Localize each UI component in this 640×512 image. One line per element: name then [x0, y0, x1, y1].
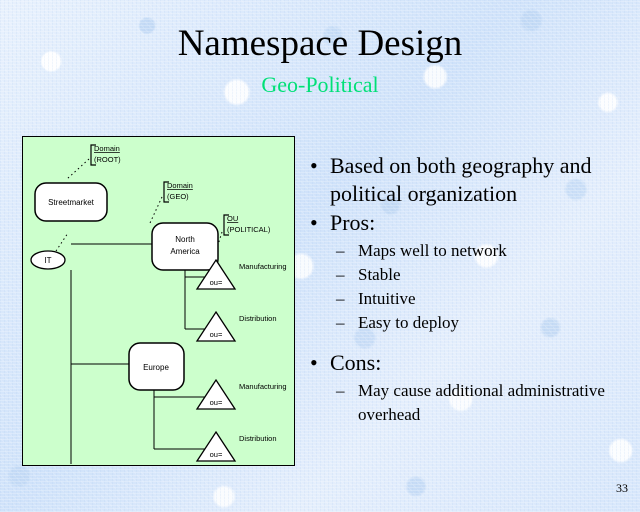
dash-marker-icon: –	[336, 311, 345, 335]
bullet-text: Based on both geography and political or…	[330, 153, 592, 206]
callout-domain-geo: Domain (GEO)	[150, 181, 193, 223]
callout-ou-political: OU (POLITICAL)	[213, 214, 271, 261]
ou-side-label: Manufacturing	[239, 382, 287, 391]
bullet-marker-icon: •	[310, 152, 318, 180]
node-europe[interactable]: Europe	[129, 343, 184, 390]
bullet-text: Cons:	[330, 350, 381, 375]
node-north-america[interactable]: North America	[152, 223, 218, 270]
slide: Namespace Design Geo-Political	[0, 0, 640, 512]
node-it-leader	[56, 233, 68, 251]
dash-marker-icon: –	[336, 379, 345, 403]
sub-bullet-text: Maps well to network	[358, 241, 507, 260]
ou-side-label: Manufacturing	[239, 262, 287, 271]
bullet-content: • Based on both geography and political …	[306, 152, 636, 431]
ou-side-label: Distribution	[239, 434, 277, 443]
dash-marker-icon: –	[336, 239, 345, 263]
ou-side-label: Distribution	[239, 314, 277, 323]
bullet-list-level1: • Based on both geography and political …	[306, 152, 636, 427]
callout-leader-1	[150, 197, 162, 223]
ou-node-na-distribution[interactable]: ou= Distribution	[197, 312, 277, 341]
ou-inner-label: ou=	[210, 450, 223, 459]
dash-marker-icon: –	[336, 287, 345, 311]
sub-bullet-text: Stable	[358, 265, 401, 284]
node-streetmarket-label: Streetmarket	[48, 198, 95, 207]
bullet-marker-icon: •	[310, 349, 318, 377]
page-subtitle: Geo-Political	[0, 72, 640, 98]
node-it[interactable]: IT	[31, 233, 68, 269]
bullet-text: Pros:	[330, 210, 375, 235]
callout-sub-1: (GEO)	[167, 192, 189, 201]
ou-inner-label: ou=	[210, 278, 223, 287]
sub-bullet-text: May cause additional administrative over…	[358, 381, 605, 424]
bullet-list-level2-cons: – May cause additional administrative ov…	[330, 379, 636, 427]
node-north-america-label-2: America	[170, 247, 200, 256]
sub-bullet-maps-well: – Maps well to network	[330, 239, 636, 263]
ou-node-eu-manufacturing[interactable]: ou= Manufacturing	[197, 380, 287, 409]
bullet-item-cons: • Cons: – May cause additional administr…	[306, 349, 636, 427]
sub-bullet-stable: – Stable	[330, 263, 636, 287]
callout-sub-2: (POLITICAL)	[227, 225, 271, 234]
node-europe-label: Europe	[143, 363, 169, 372]
page-number: 33	[616, 481, 628, 496]
sub-bullet-text: Intuitive	[358, 289, 416, 308]
callout-domain-root: Domain (ROOT)	[67, 144, 121, 179]
callout-label-1: Domain	[167, 181, 193, 190]
callout-leader-0	[67, 159, 89, 179]
sub-bullet-text: Easy to deploy	[358, 313, 459, 332]
bullet-list-level2-pros: – Maps well to network – Stable – Intuit…	[330, 239, 636, 335]
sub-bullet-easy-to-deploy: – Easy to deploy	[330, 311, 636, 335]
ou-node-eu-distribution[interactable]: ou= Distribution	[197, 432, 277, 461]
namespace-diagram: Domain (ROOT) Domain (GEO) OU (POLITICAL…	[22, 136, 295, 466]
node-north-america-label-1: North	[175, 235, 195, 244]
ou-inner-label: ou=	[210, 398, 223, 407]
sub-bullet-intuitive: – Intuitive	[330, 287, 636, 311]
callout-label-0: Domain	[94, 144, 120, 153]
sub-bullet-admin-overhead: – May cause additional administrative ov…	[330, 379, 636, 427]
spacer	[306, 339, 636, 349]
dash-marker-icon: –	[336, 263, 345, 287]
node-streetmarket[interactable]: Streetmarket	[35, 183, 107, 221]
diagram-canvas: Domain (ROOT) Domain (GEO) OU (POLITICAL…	[23, 137, 294, 465]
ou-inner-label: ou=	[210, 330, 223, 339]
page-title: Namespace Design	[0, 22, 640, 66]
callout-sub-0: (ROOT)	[94, 155, 121, 164]
node-it-label: IT	[44, 256, 51, 265]
callout-label-2: OU	[227, 214, 238, 223]
bullet-item-based-on: • Based on both geography and political …	[306, 152, 636, 208]
bullet-item-pros: • Pros: – Maps well to network – Stable …	[306, 209, 636, 335]
bullet-marker-icon: •	[310, 209, 318, 237]
